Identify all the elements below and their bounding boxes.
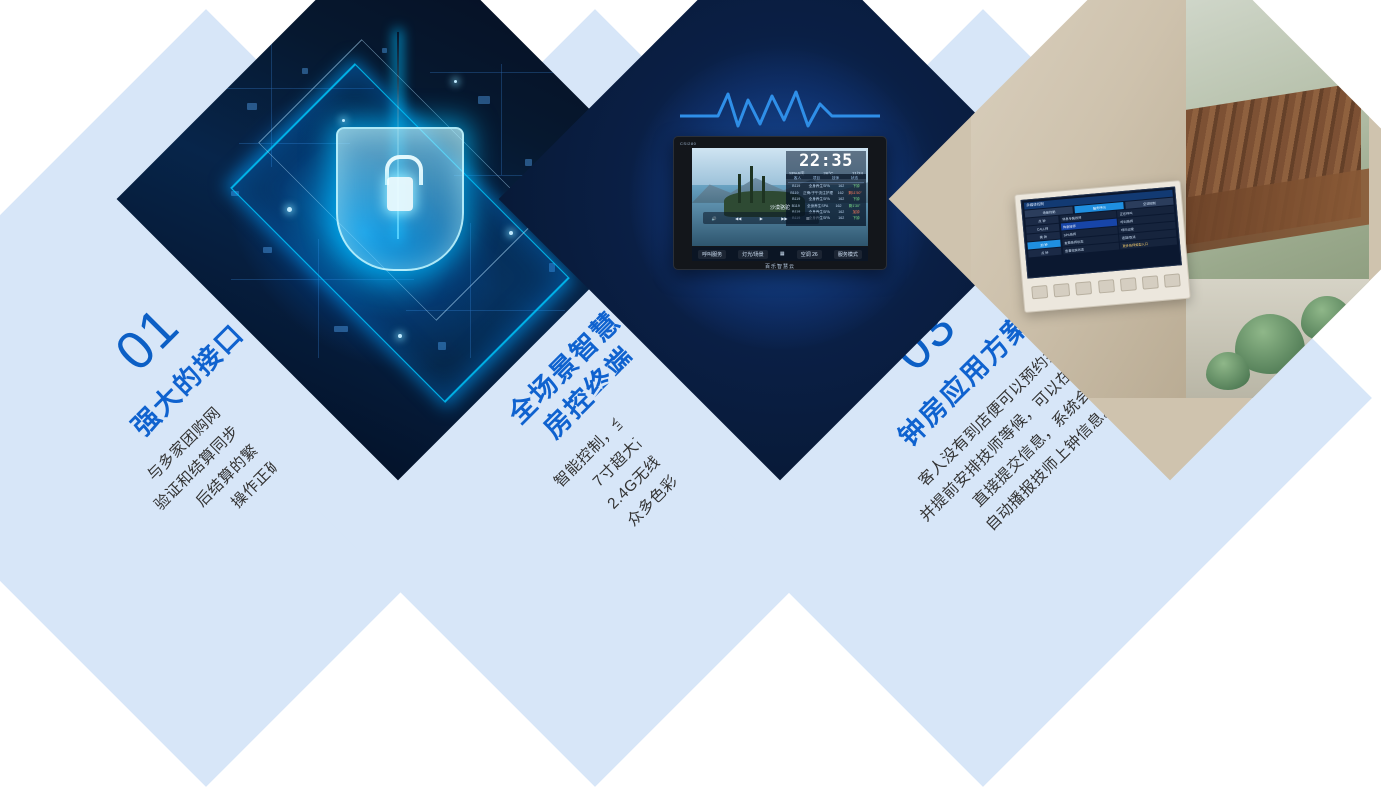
terminal-media-controls[interactable]: 🔊 ◀◀ ▶ ▶▶ ☰ — [703, 212, 819, 225]
media-play-icon[interactable]: ▶ — [760, 216, 763, 221]
th-item: 项目 — [813, 176, 820, 181]
media-list-icon[interactable]: ☰ — [806, 216, 810, 221]
plant-decor — [1206, 352, 1250, 390]
terminal-btn-aircon[interactable]: 空调 26 — [797, 250, 822, 259]
terminal-media-title: 沙漠骆驼 — [692, 204, 868, 211]
shield-lock-icon — [336, 127, 464, 271]
terminal-clock-time: 22:35 — [789, 153, 863, 170]
terminal-btn-service-mode[interactable]: 服务模式 — [834, 249, 862, 258]
wall-panel-menu-grid[interactable]: 休息专属技师 正在呼叫 休息技师 呼叫技师 SPA技师 呼叫记录 查看技师状态 … — [1060, 206, 1177, 255]
wall-panel-side-buttons[interactable]: 点 钟 CALL师 换 钟 加 钟 点 钟 — [1025, 216, 1061, 258]
wall-panel-key-5[interactable] — [1119, 277, 1136, 291]
wall-panel-screen[interactable]: 多媒体控制 场景控制 服务呼叫 空调控制 点 钟 CALL师 换 钟 加 钟 — [1020, 186, 1181, 279]
terminal-brand-top: CSI280 — [680, 141, 880, 147]
heartbeat-pulse-icon — [680, 86, 880, 132]
terminal-apps-grid-icon[interactable]: ▦ — [780, 251, 785, 257]
media-next-icon[interactable]: ▶▶ — [781, 216, 787, 221]
room-terminal-device: CSI280 22:35 SPA6房 26° — [673, 136, 887, 270]
th-guest: 客人 — [794, 176, 801, 181]
wall-control-panel-device[interactable]: 多媒体控制 场景控制 服务呼叫 空调控制 点 钟 CALL师 换 钟 加 钟 — [1014, 180, 1191, 314]
infographic-stage: 01 强大的接口 与多家团购网络合作，团购 验证和结算同步，解决了先验证 后结算… — [0, 0, 1381, 603]
wall-panel-key-4[interactable] — [1097, 279, 1114, 293]
media-volume-icon[interactable]: 🔊 — [712, 216, 717, 221]
th-status: 状态 — [851, 176, 858, 181]
plant-decor — [1301, 296, 1353, 342]
terminal-logo-text: 百乐智慧云 — [680, 261, 880, 270]
wall-panel-key-2[interactable] — [1053, 283, 1070, 297]
wall-control-panel-room-image: 多媒体控制 场景控制 服务呼叫 空调控制 点 钟 CALL师 换 钟 加 钟 — [971, 0, 1369, 398]
terminal-btn-call-service[interactable]: 呼叫服务 — [698, 249, 726, 258]
terminal-table-header: 客人 项目 技师 状态 — [788, 176, 864, 183]
media-prev-icon[interactable]: ◀◀ — [735, 216, 741, 221]
th-tech: 技师 — [832, 176, 839, 181]
wall-panel-key-6[interactable] — [1141, 275, 1158, 289]
terminal-bottom-bar: 呼叫服务 灯光/场景 ▦ 空调 26 服务模式 — [692, 247, 868, 261]
table-row: B119 全身养生SPA 162 下钟 — [788, 196, 864, 202]
terminal-btn-lighting[interactable]: 灯光/场景 — [738, 249, 767, 258]
wall-panel-side-btn-4[interactable]: 点 钟 — [1028, 248, 1061, 258]
terminal-screen: 22:35 SPA6房 26°C 11/24 客人 项目 技师 — [692, 148, 868, 246]
wall-panel-key-7[interactable] — [1163, 273, 1180, 287]
table-row: B119 全身养生SPA 162 下钟 — [788, 183, 864, 189]
wall-panel-key-1[interactable] — [1031, 285, 1048, 299]
wall-panel-key-3[interactable] — [1075, 281, 1092, 295]
